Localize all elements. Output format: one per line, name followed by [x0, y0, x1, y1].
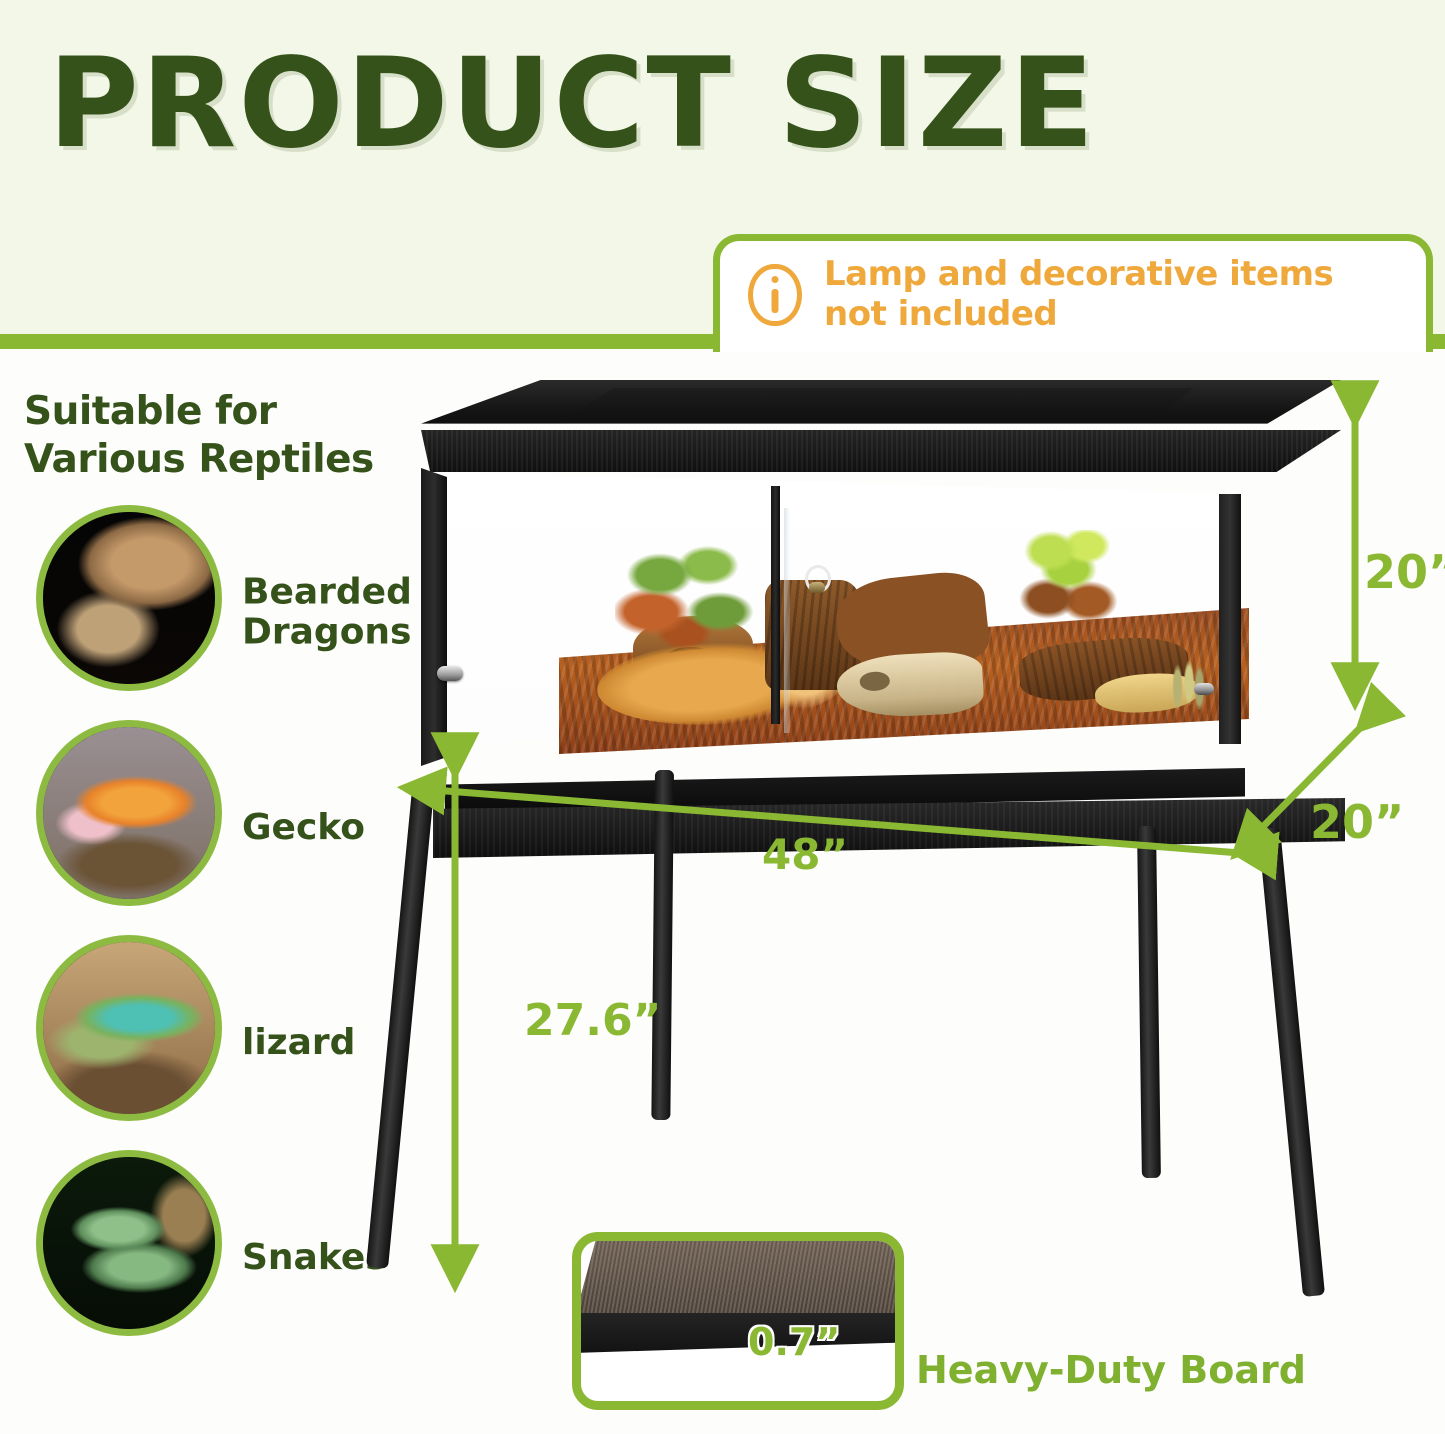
door-lock-center-icon[interactable] — [805, 565, 831, 593]
heavy-duty-board-inset — [572, 1232, 904, 1410]
notice-line-2: not included — [824, 295, 1333, 335]
sidebar-heading-line-2: Various Reptiles — [24, 436, 424, 484]
dimension-label-depth: 20” — [1310, 795, 1404, 849]
board-edge — [575, 1313, 904, 1353]
terrarium-right-post — [1219, 494, 1241, 744]
info-circle-icon — [748, 264, 802, 326]
dimension-label-stand-height: 27.6” — [524, 995, 661, 1046]
list-item: Gecko — [30, 720, 430, 935]
glass-door-edge — [784, 508, 790, 733]
dimension-label-board-thickness: 0.7” — [748, 1320, 840, 1364]
label-line: Dragons — [242, 613, 432, 653]
reptile-terrarium-with-stand — [405, 380, 1360, 860]
door-handle-left-icon[interactable] — [437, 666, 463, 681]
dimension-label-width: 48” — [762, 830, 848, 879]
terrarium-body — [419, 468, 1324, 768]
notice-text: Lamp and decorative items not included — [824, 255, 1333, 335]
list-item-label: Snakes — [242, 1237, 432, 1277]
list-item-label: Bearded Dragons — [242, 572, 432, 653]
stand-leg-front-right — [1258, 827, 1325, 1297]
product-size-infographic: PRODUCT SIZE Lamp and decorative items n… — [0, 0, 1445, 1434]
list-item-label: Gecko — [242, 807, 432, 847]
terrarium-top-rail — [421, 430, 1341, 472]
label-line: Bearded — [242, 572, 432, 612]
page-title: PRODUCT SIZE — [48, 42, 1096, 166]
stand-leg-back-right — [1137, 826, 1161, 1178]
lizard-photo — [36, 935, 222, 1121]
board-surface — [575, 1239, 904, 1317]
bearded-dragon-photo — [36, 505, 222, 691]
gecko-photo — [36, 720, 222, 906]
terrarium-lid — [421, 380, 1341, 436]
stand-leg-back-left — [651, 770, 674, 1120]
list-item: lizard — [30, 935, 430, 1150]
list-item: Bearded Dragons — [30, 505, 430, 720]
dimension-label-height: 20” — [1364, 545, 1445, 599]
sidebar-heading-line-1: Suitable for — [24, 388, 424, 436]
notice-line-1: Lamp and decorative items — [824, 255, 1333, 295]
door-handle-right-icon[interactable] — [1194, 683, 1214, 695]
notice-badge: Lamp and decorative items not included — [713, 234, 1433, 352]
board-caption: Heavy-Duty Board — [916, 1348, 1306, 1392]
terrarium-left-post — [421, 468, 447, 766]
sidebar-heading: Suitable for Various Reptiles — [24, 388, 424, 483]
snake-photo — [36, 1150, 222, 1336]
glass-door-divider — [771, 486, 780, 724]
